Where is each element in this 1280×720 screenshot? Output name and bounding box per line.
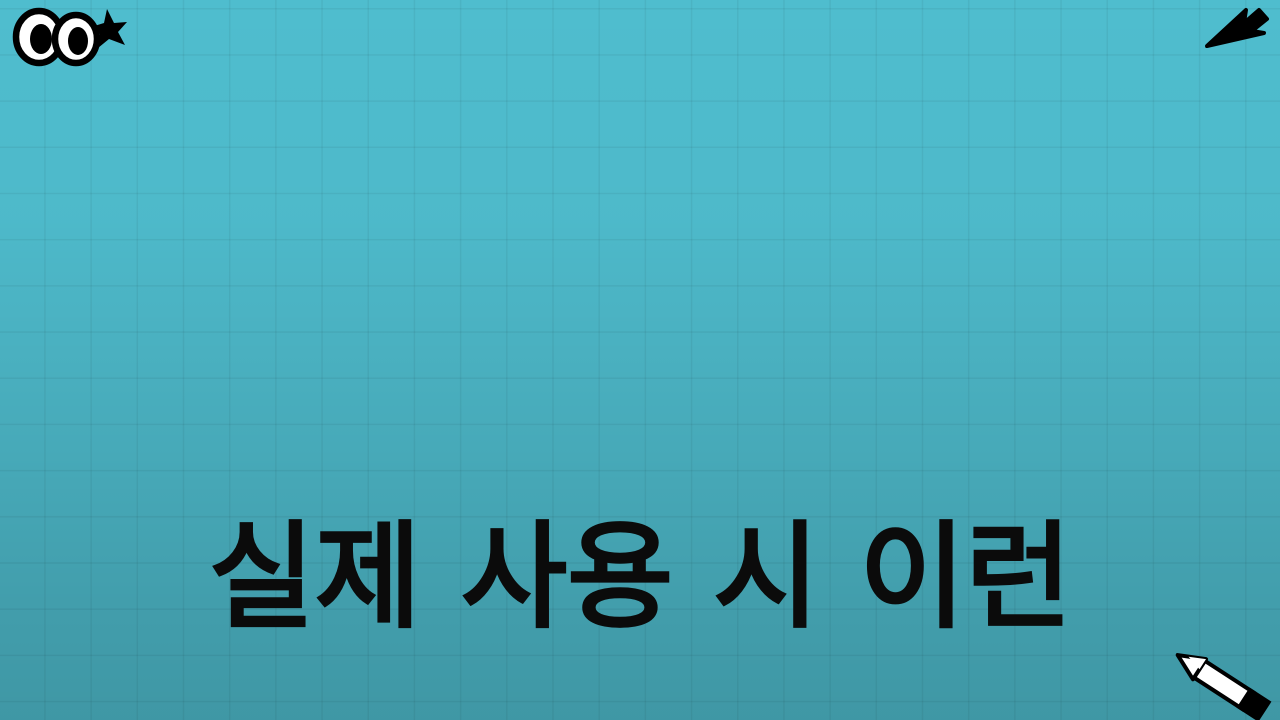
slide-canvas: 실제 사용 시 이런 실수가 제일 많습니다 — [0, 0, 1280, 720]
headline-line-1: 실제 사용 시 이런 — [0, 502, 1280, 654]
cursor-arrow-icon — [1203, 2, 1273, 52]
googly-eyes-icon — [8, 4, 128, 68]
page-title: 실제 사용 시 이런 실수가 제일 많습니다 — [0, 198, 1280, 720]
eye-right-icon — [55, 15, 97, 63]
